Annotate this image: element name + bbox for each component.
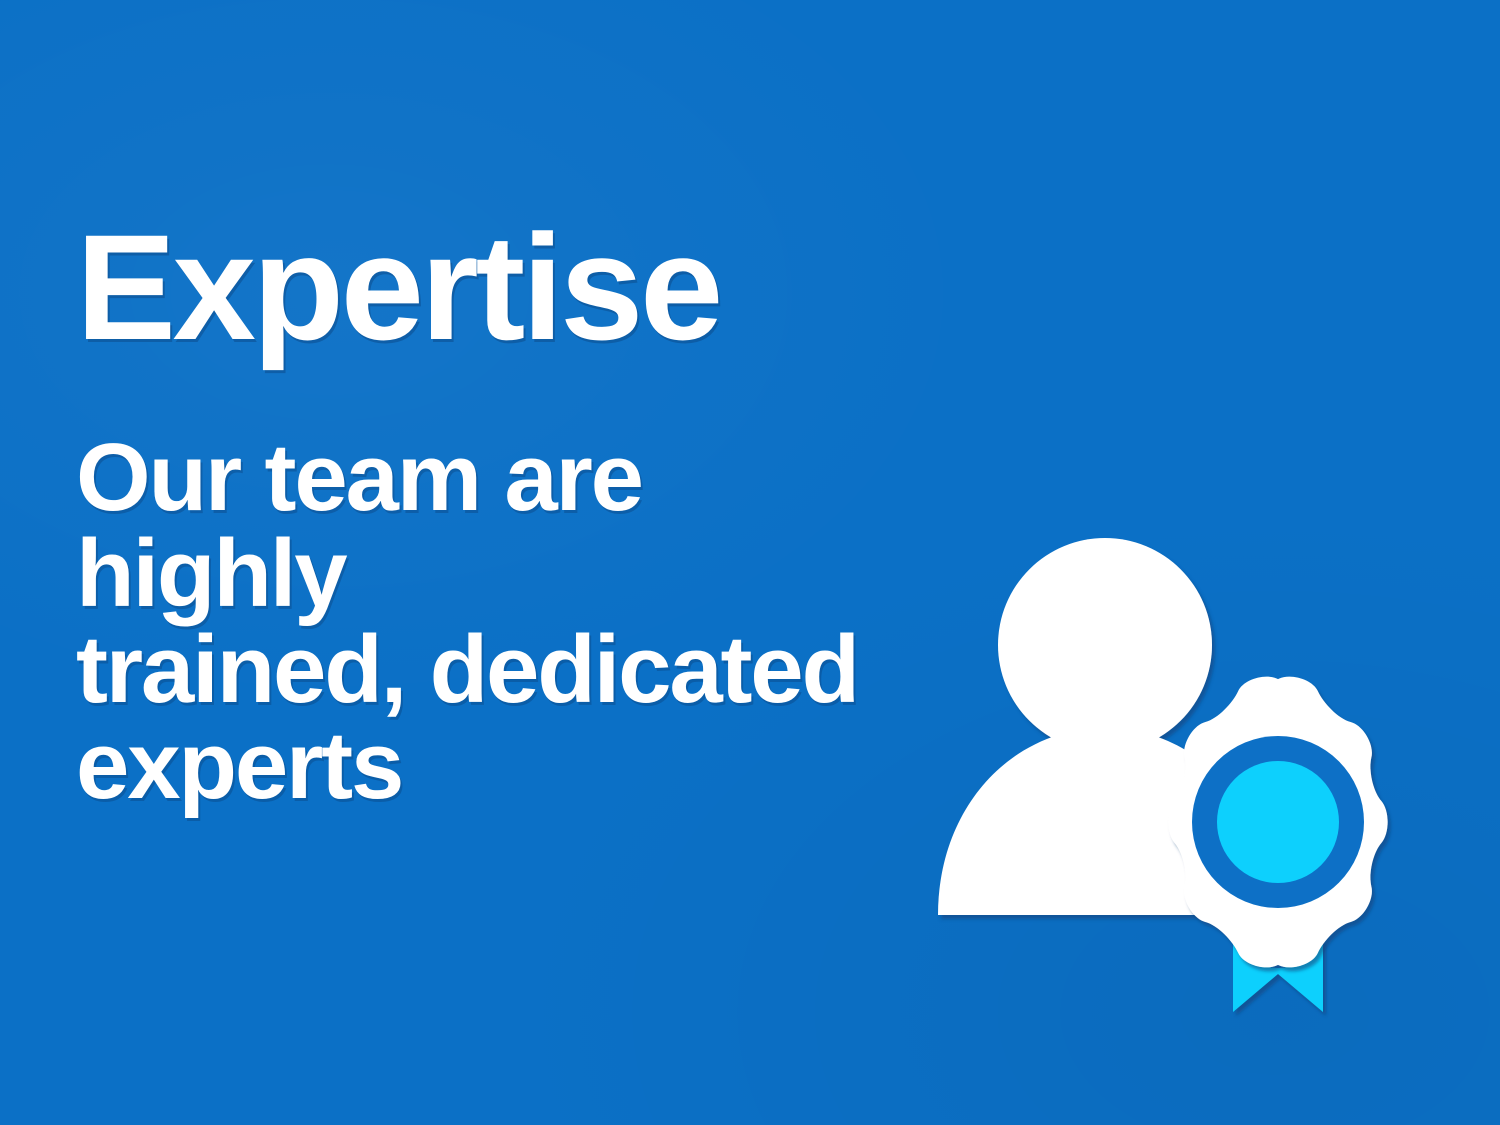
rosette-center <box>1217 761 1339 883</box>
subtitle-line-1: Our team are highly <box>76 430 906 622</box>
subtitle-line-2: trained, dedicated <box>76 622 906 718</box>
subtitle: Our team are highly trained, dedicated e… <box>76 362 906 814</box>
page-title: Expertise <box>76 212 906 362</box>
subtitle-line-3: experts <box>76 718 906 814</box>
expertise-slide: Expertise Our team are highly trained, d… <box>0 0 1500 1125</box>
award-rosette <box>1168 677 1387 968</box>
text-block: Expertise Our team are highly trained, d… <box>76 212 906 814</box>
person-head <box>998 538 1212 752</box>
certified-person-badge-icon <box>900 500 1420 1060</box>
